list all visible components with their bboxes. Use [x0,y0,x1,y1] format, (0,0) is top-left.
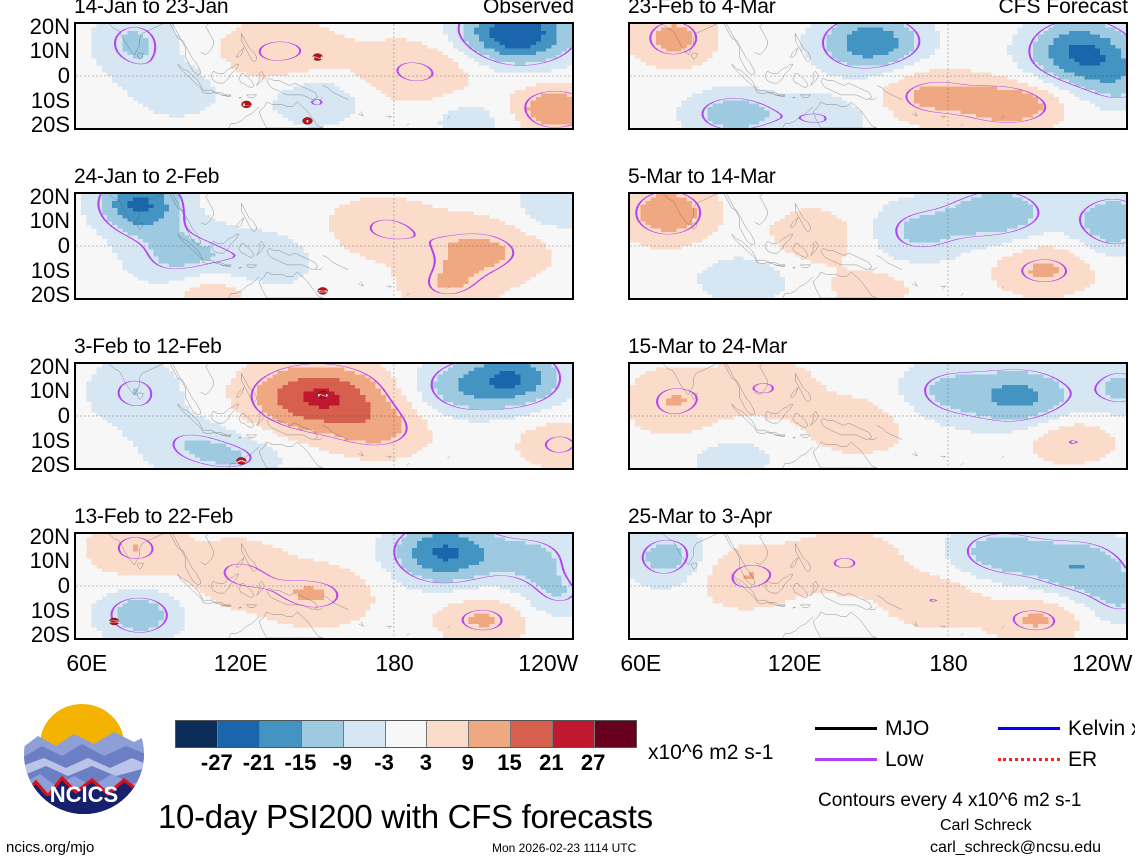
map-panel: 5-Mar to 14-Mar [628,168,1128,302]
colorbar-swatch [469,721,511,747]
map-panel: 15-Mar to 24-Mar [628,338,1128,472]
map-panel: 14-Jan to 23-JanObservedNLI [74,0,574,132]
map-plot-area [628,192,1128,300]
author-name: Carl Schreck [940,818,1032,834]
ncics-logo-text: NCICS [50,782,118,807]
y-tick-label: 0 [58,65,70,87]
colorbar-swatch [302,721,344,747]
y-axis-labels: 20N10N010S20S [4,362,70,470]
colorbar-tick: 27 [581,752,605,774]
y-tick-label: 20N [30,186,70,208]
y-tick-label: 0 [58,405,70,427]
colorbar-swatch [427,721,469,747]
x-tick-label: 120W [1072,652,1132,675]
legend-label-er: ER [1068,749,1097,770]
map-plot-area: NLI [74,22,574,130]
kelvin-line-swatch [998,727,1060,730]
x-tick-label: 120W [518,652,578,675]
y-tick-label: 10N [30,210,70,232]
colorbar-tick-labels: -27-21-15-9-339152127 [175,752,635,776]
y-tick-label: 20N [30,356,70,378]
y-tick-label: 20S [31,114,70,136]
panel-title: 25-Mar to 3-Apr [628,506,772,527]
panel-grid: 14-Jan to 23-JanObservedNLI20N10N010S20S… [0,0,1135,680]
colorbar-swatch [386,721,428,747]
colorbar-tick: 15 [497,752,521,774]
map-panel: 13-Feb to 22-FebG [74,508,574,642]
panel-title: 5-Mar to 14-Mar [628,166,776,187]
svg-text:L: L [242,103,252,107]
y-tick-label: 20S [31,284,70,306]
y-tick-label: 20N [30,526,70,548]
colorbar-swatch [344,721,386,747]
colorbar-tick: -21 [243,752,275,774]
x-tick-label: 60E [66,652,107,675]
y-axis-labels: 20N10N010S20S [4,192,70,300]
panel-title: 3-Feb to 12-Feb [74,336,222,357]
x-tick-label: 180 [375,652,413,675]
map-panel: 24-Jan to 2-FebS [74,168,574,302]
map-plot-area: NA [74,362,574,470]
panel-title: 15-Mar to 24-Mar [628,336,787,357]
panel-title: 14-Jan to 23-Jan [74,0,228,17]
ncics-logo-icon: NCICS [22,692,146,816]
colorbar-unit-label: x10^6 m2 s-1 [648,742,773,763]
colorbar-swatch [176,721,218,747]
colorbar-swatch [553,721,595,747]
panel-column-header: Observed [483,0,574,17]
panel-title: 23-Feb to 4-Mar [628,0,776,17]
colorbar-tick: -15 [285,752,317,774]
figure-title: 10-day PSI200 with CFS forecasts [158,800,653,833]
y-tick-label: 10S [31,90,70,112]
panel-column-header: CFS Forecast [998,0,1128,17]
legend-label-low: Low [885,749,924,770]
legend-item-er: ER [998,749,1097,770]
legend-label-mjo: MJO [885,718,929,739]
panel-title: 24-Jan to 2-Feb [74,166,219,187]
contour-legend: MJO Kelvin x2 Low ER [815,718,1135,774]
colorbar-swatch [218,721,260,747]
colorbar-swatches [175,720,637,748]
y-tick-label: 20S [31,624,70,646]
author-email: carl_schreck@ncsu.edu [930,840,1101,856]
y-tick-label: 0 [58,575,70,597]
generated-timestamp: Mon 2026-02-23 1114 UTC [492,842,636,854]
x-tick-label: 120E [768,652,822,675]
colorbar-tick: -3 [374,752,394,774]
colorbar-swatch [595,721,636,747]
colorbar-tick: -9 [332,752,352,774]
x-tick-label: 180 [929,652,967,675]
svg-text:N: N [312,56,324,60]
ncics-logo: NCICS [22,692,146,816]
svg-text:I: I [305,119,310,123]
contour-interval-note: Contours every 4 x10^6 m2 s-1 [818,791,1081,810]
y-tick-label: 10S [31,430,70,452]
y-tick-label: 10N [30,550,70,572]
y-tick-label: 10S [31,600,70,622]
y-tick-label: 10N [30,380,70,402]
x-tick-label: 60E [620,652,661,675]
map-plot-area [628,532,1128,640]
colorbar: -27-21-15-9-339152127 [175,720,637,778]
colorbar-swatch [260,721,302,747]
map-plot-area [628,22,1128,130]
y-tick-label: 0 [58,235,70,257]
y-tick-label: 10S [31,260,70,282]
colorbar-tick: 21 [539,752,563,774]
legend-label-kelvin: Kelvin x2 [1068,718,1135,739]
colorbar-tick: 9 [462,752,474,774]
legend-item-low: Low [815,749,924,770]
colorbar-tick: 3 [420,752,432,774]
er-line-swatch [998,758,1060,761]
map-plot-area: S [74,192,574,300]
map-panel: 23-Feb to 4-MarCFS Forecast [628,0,1128,132]
site-url: ncics.org/mjo [6,840,94,855]
colorbar-tick: -27 [201,752,233,774]
y-tick-label: 20N [30,16,70,38]
map-plot-area: G [74,532,574,640]
legend-item-kelvin: Kelvin x2 [998,718,1135,739]
y-axis-labels: 20N10N010S20S [4,532,70,640]
legend-item-mjo: MJO [815,718,929,739]
x-axis-labels: 60E120E180120W [628,652,1128,682]
map-panel: 3-Feb to 12-FebNA [74,338,574,472]
low-line-swatch [815,758,877,761]
x-axis-labels: 60E120E180120W [74,652,574,682]
y-tick-label: 10N [30,40,70,62]
y-axis-labels: 20N10N010S20S [4,22,70,130]
y-tick-label: 20S [31,454,70,476]
colorbar-swatch [511,721,553,747]
x-tick-label: 120E [214,652,268,675]
map-panel: 25-Mar to 3-Apr [628,508,1128,642]
map-plot-area [628,362,1128,470]
panel-title: 13-Feb to 22-Feb [74,506,233,527]
mjo-line-swatch [815,727,877,730]
